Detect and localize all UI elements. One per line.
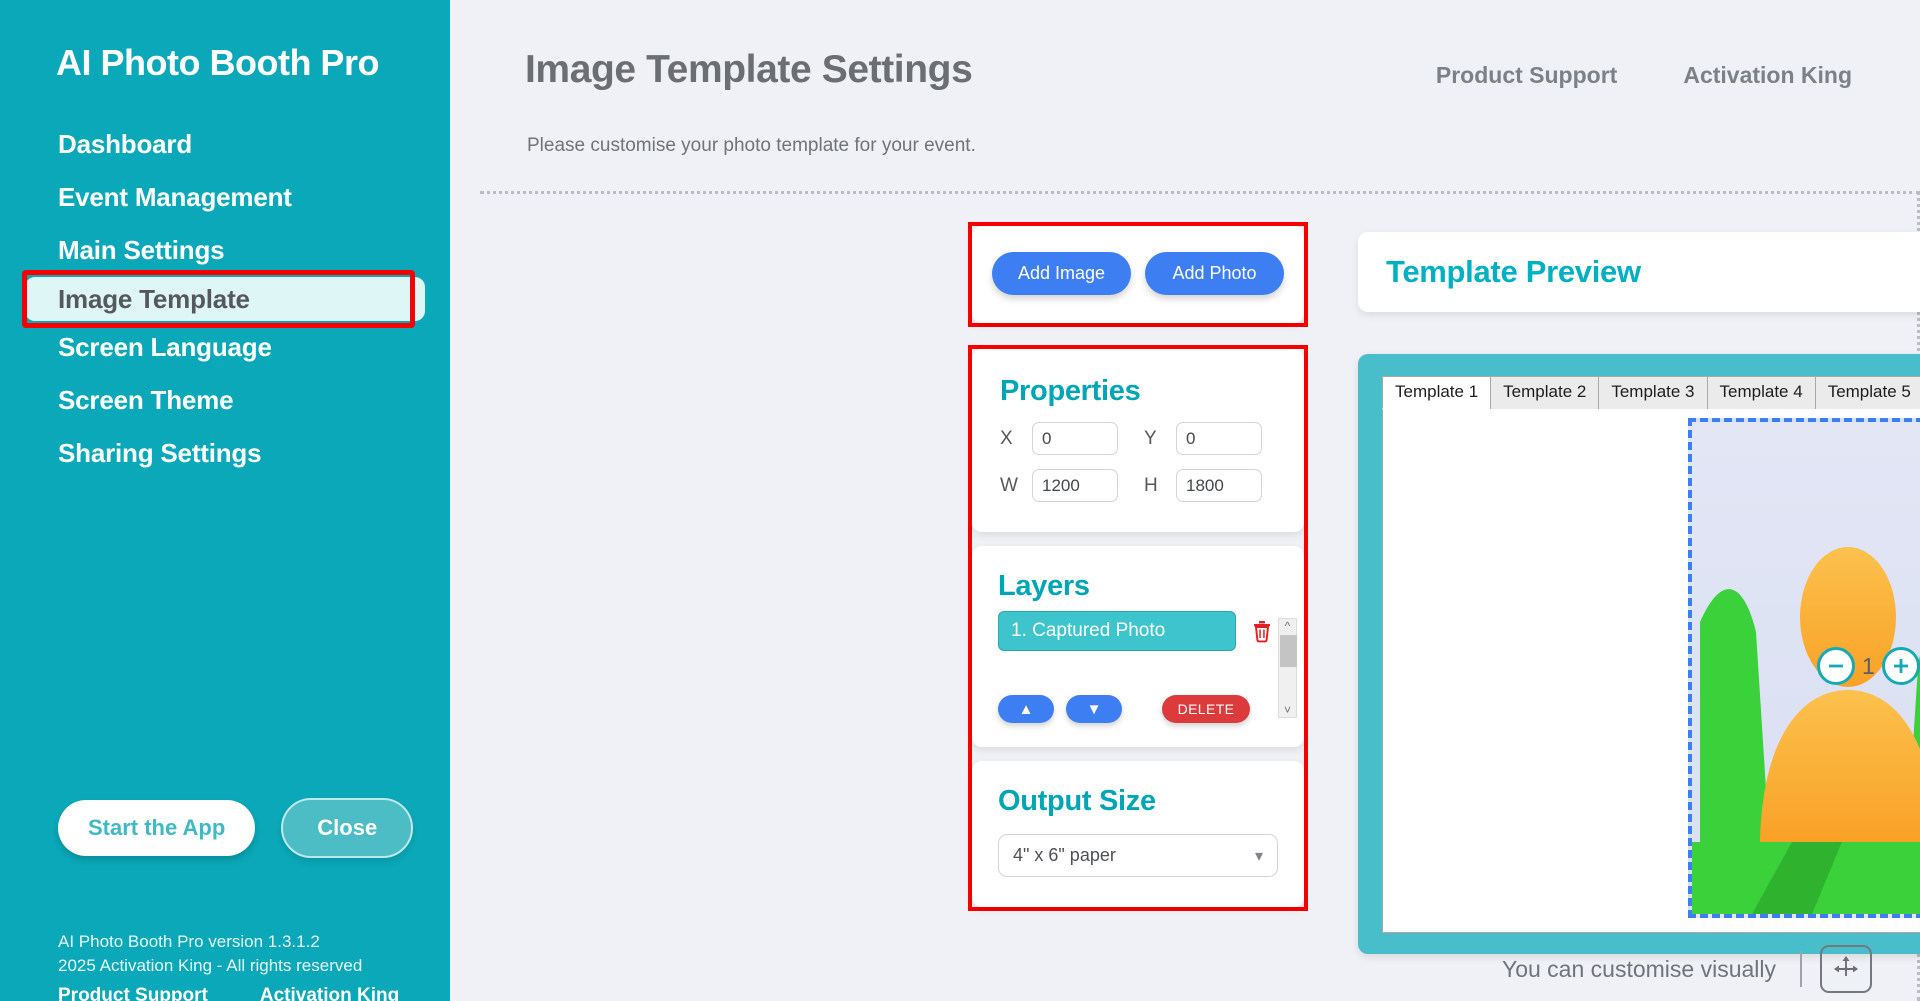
output-size-heading: Output Size bbox=[998, 785, 1278, 818]
close-button[interactable]: Close bbox=[281, 798, 413, 858]
sidebar-item-main-settings[interactable]: Main Settings bbox=[0, 224, 450, 277]
add-buttons-highlight: Add Image Add Photo bbox=[968, 222, 1308, 327]
w-label: W bbox=[1000, 475, 1032, 497]
template-canvas[interactable]: 1 bbox=[1382, 408, 1920, 933]
add-photo-button[interactable]: Add Photo bbox=[1145, 252, 1284, 295]
properties-row-xy: X Y bbox=[1000, 422, 1276, 455]
preview-header: Template Preview Undo Redo bbox=[1358, 232, 1920, 312]
sidebar-item-dashboard[interactable]: Dashboard bbox=[0, 118, 450, 171]
zoom-out-button[interactable] bbox=[1817, 647, 1855, 685]
sidebar-action-buttons: Start the App Close bbox=[58, 798, 413, 858]
tools-column: Add Image Add Photo Properties X Y bbox=[968, 222, 1308, 929]
tab-template-5[interactable]: Template 5 bbox=[1815, 376, 1920, 409]
zoom-in-button[interactable] bbox=[1882, 647, 1920, 685]
layers-body: Layers 1. Captured Photo bbox=[972, 546, 1304, 747]
zoom-level-value: 1 bbox=[1857, 653, 1880, 680]
spacer bbox=[972, 747, 1304, 761]
sidebar-footer: AI Photo Booth Pro version 1.3.1.2 2025 … bbox=[58, 930, 362, 978]
add-buttons-row: Add Image Add Photo bbox=[972, 226, 1304, 323]
sidebar: AI Photo Booth Pro Dashboard Event Manag… bbox=[0, 0, 450, 1001]
header-links: Product Support Activation King bbox=[1436, 62, 1852, 89]
zoom-controls: 1 bbox=[1817, 647, 1920, 685]
y-label: Y bbox=[1144, 428, 1176, 450]
properties-layers-output-highlight: Properties X Y W H bbox=[968, 345, 1308, 911]
h-input[interactable] bbox=[1176, 469, 1262, 502]
main-content: Image Template Settings Please customise… bbox=[450, 0, 1920, 1001]
sidebar-item-screen-theme[interactable]: Screen Theme bbox=[0, 374, 450, 427]
move-layer-up-button[interactable]: ▲ bbox=[998, 695, 1054, 723]
output-size-selected-value: 4" x 6" paper bbox=[1013, 845, 1116, 866]
start-the-app-button[interactable]: Start the App bbox=[58, 800, 255, 856]
resize-arrows-icon bbox=[1831, 954, 1861, 985]
sidebar-link-activation-king[interactable]: Activation King bbox=[260, 985, 399, 1001]
status-note: You can customise visually bbox=[1502, 956, 1776, 983]
properties-card: Properties X Y W H bbox=[972, 349, 1304, 532]
sidebar-footer-links: Product Support Activation King bbox=[58, 985, 399, 1001]
tab-template-4[interactable]: Template 4 bbox=[1707, 376, 1816, 409]
preview-frame: Template 1 Template 2 Template 3 Templat… bbox=[1358, 354, 1920, 954]
resize-window-button[interactable] bbox=[1820, 945, 1872, 993]
version-text: AI Photo Booth Pro version 1.3.1.2 bbox=[58, 930, 362, 954]
preview-title: Template Preview bbox=[1386, 254, 1641, 290]
sidebar-item-image-template-wrap: Image Template bbox=[0, 277, 450, 321]
tab-template-3[interactable]: Template 3 bbox=[1598, 376, 1707, 409]
move-layer-down-button[interactable]: ▼ bbox=[1066, 695, 1122, 723]
layer-row: 1. Captured Photo bbox=[998, 611, 1278, 651]
spacer bbox=[972, 532, 1304, 546]
page-subtitle: Please customise your photo template for… bbox=[527, 135, 976, 157]
scroll-down-icon[interactable]: ˅ bbox=[1284, 703, 1291, 717]
layers-scrollbar[interactable]: ^ ˅ bbox=[1278, 618, 1297, 718]
tab-template-2[interactable]: Template 2 bbox=[1490, 376, 1599, 409]
tab-template-1[interactable]: Template 1 bbox=[1382, 376, 1491, 409]
app-brand-title: AI Photo Booth Pro bbox=[56, 42, 379, 84]
sidebar-item-sharing-settings[interactable]: Sharing Settings bbox=[0, 427, 450, 480]
sidebar-link-product-support[interactable]: Product Support bbox=[58, 985, 208, 1001]
template-tabs: Template 1 Template 2 Template 3 Templat… bbox=[1382, 376, 1920, 409]
trash-icon[interactable] bbox=[1246, 619, 1278, 643]
scroll-up-icon[interactable]: ^ bbox=[1285, 619, 1291, 633]
x-input[interactable] bbox=[1032, 422, 1118, 455]
sidebar-item-event-management[interactable]: Event Management bbox=[0, 171, 450, 224]
output-size-select[interactable]: 4" x 6" paper ▾ bbox=[998, 834, 1278, 877]
header-link-activation-king[interactable]: Activation King bbox=[1683, 62, 1852, 89]
scrollbar-thumb[interactable] bbox=[1280, 635, 1297, 667]
delete-layer-button[interactable]: DELETE bbox=[1162, 695, 1250, 723]
properties-body: Properties X Y W H bbox=[972, 349, 1304, 532]
properties-row-wh: W H bbox=[1000, 469, 1276, 502]
sidebar-nav: Dashboard Event Management Main Settings… bbox=[0, 118, 450, 480]
header-divider bbox=[480, 191, 1920, 194]
layers-card: Layers 1. Captured Photo bbox=[972, 546, 1304, 747]
layer-action-buttons: ▲ ▼ DELETE bbox=[998, 695, 1278, 723]
sidebar-item-screen-language[interactable]: Screen Language bbox=[0, 321, 450, 374]
list-item[interactable]: 1. Captured Photo bbox=[998, 611, 1236, 651]
output-size-card: Output Size 4" x 6" paper ▾ bbox=[972, 761, 1304, 907]
x-label: X bbox=[1000, 428, 1032, 450]
properties-heading: Properties bbox=[1000, 375, 1276, 408]
sidebar-item-image-template[interactable]: Image Template bbox=[25, 277, 425, 321]
add-image-button[interactable]: Add Image bbox=[992, 252, 1131, 295]
header-link-product-support[interactable]: Product Support bbox=[1436, 62, 1617, 89]
y-input[interactable] bbox=[1176, 422, 1262, 455]
page-title: Image Template Settings bbox=[525, 48, 972, 92]
add-buttons-card: Add Image Add Photo bbox=[972, 226, 1304, 323]
w-input[interactable] bbox=[1032, 469, 1118, 502]
copyright-text: 2025 Activation King - All rights reserv… bbox=[58, 954, 362, 978]
output-size-body: Output Size 4" x 6" paper ▾ bbox=[972, 761, 1304, 907]
h-label: H bbox=[1144, 475, 1176, 497]
status-separator bbox=[1800, 951, 1802, 987]
layers-heading: Layers bbox=[998, 570, 1278, 603]
chevron-down-icon: ▾ bbox=[1255, 846, 1263, 866]
